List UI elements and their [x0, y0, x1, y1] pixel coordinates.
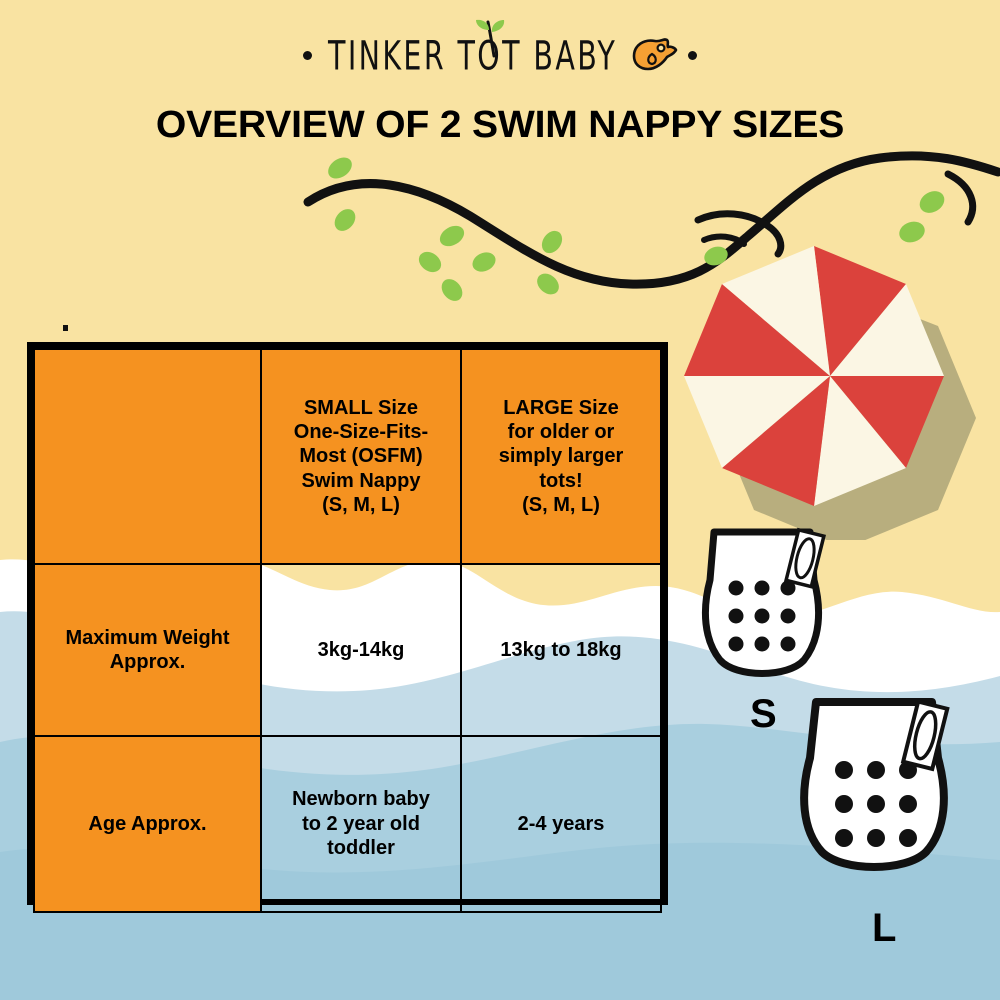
header-small-line5: (S, M, L)	[268, 493, 454, 517]
header-large-line1: LARGE Size	[468, 396, 654, 420]
row-label-max-weight: Maximum Weight Approx.	[34, 564, 261, 736]
leaf-sprout-icon	[470, 18, 522, 58]
header-large-line2: for older or	[468, 420, 654, 444]
cell-age-small: Newborn baby to 2 year old toddler	[261, 736, 461, 912]
snap-dots-grid	[835, 761, 917, 847]
header-small-line1: SMALL Size	[268, 396, 454, 420]
page-title: OVERVIEW OF 2 SWIM NAPPY SIZES	[0, 104, 1000, 147]
header-small-line3: Most (OSFM)	[268, 444, 454, 468]
infographic-canvas: TINKER TOT BABY OVERVIEW OF 2 SWIM NAPPY…	[0, 0, 1000, 1000]
cell-weight-large: 13kg to 18kg	[461, 564, 661, 736]
cell-weight-small: 3kg-14kg	[261, 564, 461, 736]
size-chart-table: SMALL Size One-Size-Fits- Most (OSFM) Sw…	[27, 342, 668, 905]
row-label-line2: Approx.	[41, 650, 254, 674]
beach-umbrella-icon	[680, 240, 1000, 540]
snap-dots-grid	[729, 581, 796, 652]
table-header-row: SMALL Size One-Size-Fits- Most (OSFM) Sw…	[34, 349, 661, 564]
stray-mark	[63, 325, 68, 331]
row-label-age: Age Approx.	[34, 736, 261, 912]
bird-icon	[630, 36, 678, 74]
cell-age-small-line3: toddler	[268, 836, 454, 860]
header-large-line3: simply larger	[468, 444, 654, 468]
header-small-line4: Swim Nappy	[268, 469, 454, 493]
header-cell-large: LARGE Size for older or simply larger to…	[461, 349, 661, 564]
table-row: Age Approx. Newborn baby to 2 year old t…	[34, 736, 661, 912]
logo-right-dot	[688, 51, 697, 60]
header-small-line2: One-Size-Fits-	[268, 420, 454, 444]
header-cell-blank	[34, 349, 261, 564]
nappy-large-illustration	[786, 688, 966, 898]
cell-age-small-line2: to 2 year old	[268, 812, 454, 836]
nappy-small-illustration	[688, 518, 838, 698]
nappy-small-size-label: S	[750, 692, 777, 737]
header-large-line4: tots!	[468, 469, 654, 493]
row-label-line1: Maximum Weight	[41, 626, 254, 650]
logo-left-dot	[303, 51, 312, 60]
table-row: Maximum Weight Approx. 3kg-14kg 13kg to …	[34, 564, 661, 736]
cell-age-small-line1: Newborn baby	[268, 787, 454, 811]
header-large-line5: (S, M, L)	[468, 493, 654, 517]
header-cell-small: SMALL Size One-Size-Fits- Most (OSFM) Sw…	[261, 349, 461, 564]
nappy-large-size-label: L	[872, 906, 896, 951]
cell-age-large: 2-4 years	[461, 736, 661, 912]
